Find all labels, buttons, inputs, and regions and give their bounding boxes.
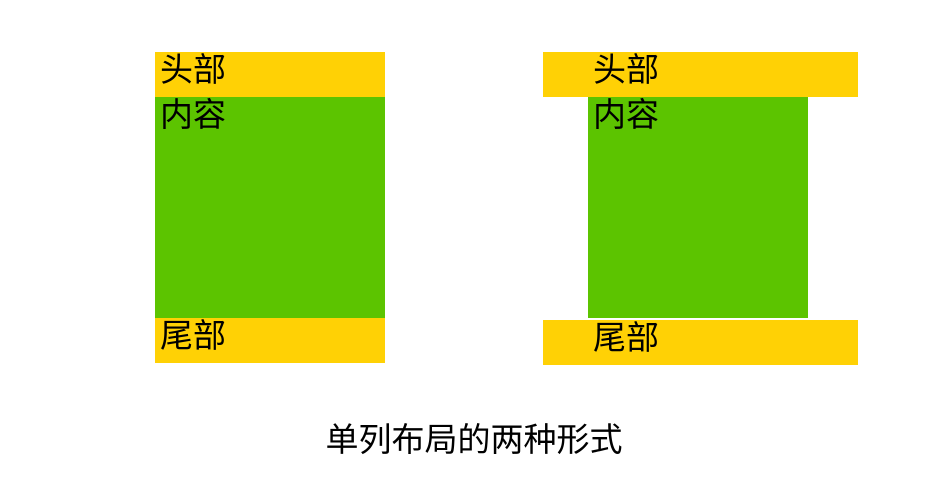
uniform-header-band: 头部 — [155, 52, 385, 97]
uniform-footer-band: 尾部 — [155, 318, 385, 363]
figure-canvas: 头部 内容 尾部 头部 内容 尾部 单列布局的两种形式 — [0, 0, 948, 488]
fullbleed-header-band: 头部 — [543, 52, 858, 97]
fullbleed-content-band: 内容 — [588, 97, 808, 318]
fullbleed-footer-band: 尾部 — [543, 320, 858, 365]
uniform-header-label: 头部 — [160, 50, 226, 90]
fullbleed-content-label: 内容 — [593, 95, 659, 135]
uniform-content-label: 内容 — [160, 95, 226, 135]
figure-caption: 单列布局的两种形式 — [0, 418, 948, 462]
uniform-content-band: 内容 — [155, 97, 385, 318]
fullbleed-footer-label: 尾部 — [593, 318, 659, 358]
uniform-footer-label: 尾部 — [160, 316, 226, 356]
fullbleed-header-label: 头部 — [593, 50, 659, 90]
